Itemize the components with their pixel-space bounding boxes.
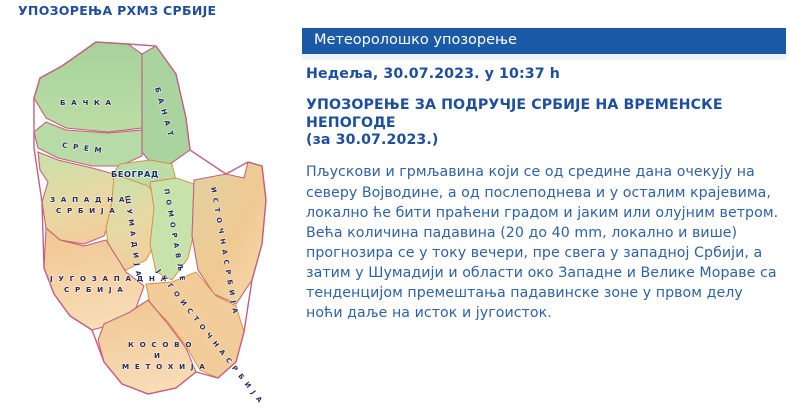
panel-header: Метеоролошко упозорење	[302, 28, 786, 54]
map-label-jugozapadna-srbija: Ј У Г О З А П А Д Н А	[49, 274, 168, 283]
map-label-kosovo-3: М Е Т О Х И Ј А	[122, 362, 206, 371]
warning-panel: Метеоролошко упозорење Недеља, 30.07.202…	[292, 0, 790, 411]
panel-header-accent-band	[302, 54, 786, 60]
panel-body: Недеља, 30.07.2023. у 10:37 h УПОЗОРЕЊЕ …	[306, 66, 782, 324]
region-backa[interactable]	[34, 42, 142, 132]
warning-title: УПОЗОРЕЊЕ ЗА ПОДРУЧЈЕ СРБИЈЕ НА ВРЕМЕНСК…	[306, 96, 782, 132]
map-label-beograd: БЕОГРАД	[111, 169, 159, 179]
page-title: УПОЗОРЕЊА РХМЗ СРБИЈЕ	[18, 3, 216, 18]
warning-paragraph-2: Већа количина падавина (20 до 40 mm, лок…	[306, 223, 782, 324]
map-label-kosovo-2: И	[154, 351, 162, 360]
map-label-jugozapadna-srbija-2: С Р Б И Ј А	[64, 285, 124, 294]
panel-header-title: Метеоролошко упозорење	[314, 32, 517, 48]
map-label-zapadna-srbija-2: С Р Б И Ј А	[56, 206, 116, 215]
serbia-region-map[interactable]: Б А Ч К А Б А Н А Т С Р Е М БЕОГРАД З А …	[0, 32, 280, 411]
map-svg: Б А Ч К А Б А Н А Т С Р Е М БЕОГРАД З А …	[0, 32, 280, 411]
warning-page: УПОЗОРЕЊА РХМЗ СРБИЈЕ	[0, 0, 790, 411]
map-label-kosovo: К О С О В О	[128, 340, 193, 349]
map-column: УПОЗОРЕЊА РХМЗ СРБИЈЕ	[0, 0, 292, 411]
map-label-backa: Б А Ч К А	[60, 98, 113, 107]
warning-timestamp: Недеља, 30.07.2023. у 10:37 h	[306, 66, 782, 82]
map-label-zapadna-srbija: З А П А Д Н А	[50, 195, 126, 204]
warning-subtitle: (за 30.07.2023.)	[306, 132, 782, 148]
warning-paragraph-1: Пљускови и грмљавина који се од средине …	[306, 162, 782, 222]
